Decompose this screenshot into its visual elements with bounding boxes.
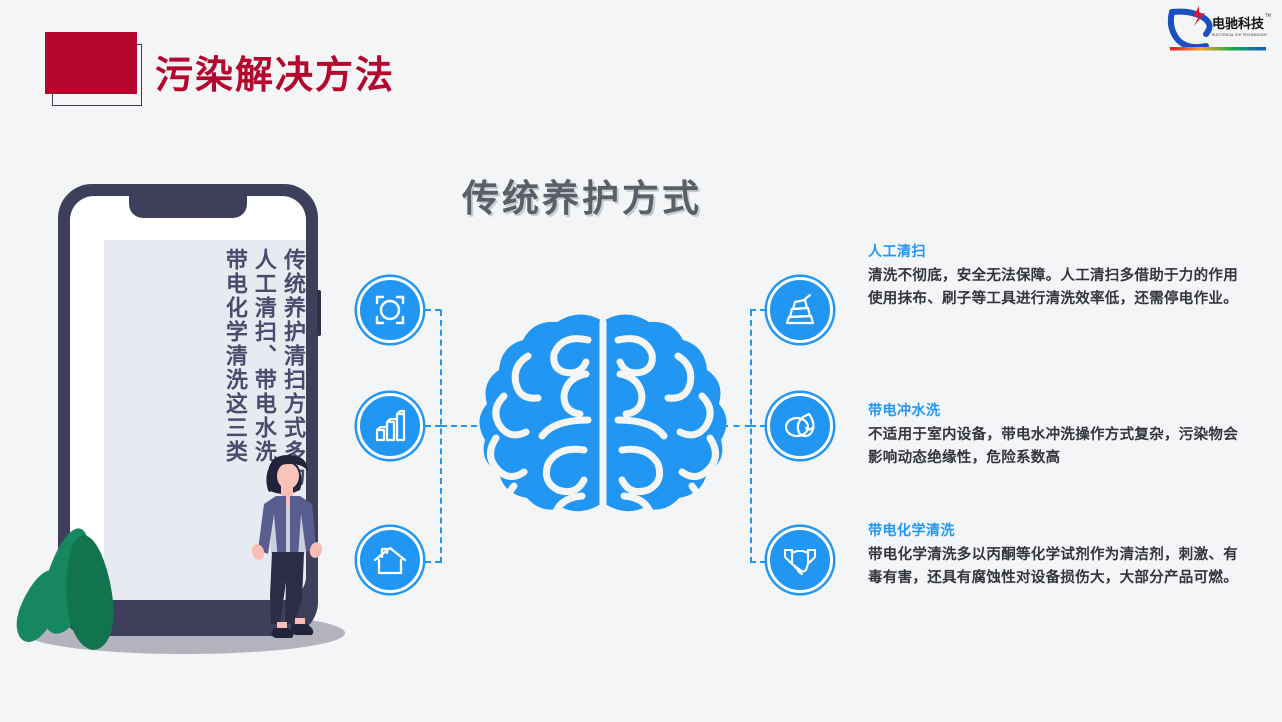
page-title: 污染解决方法 <box>155 44 395 99</box>
phone-home-button <box>176 601 201 626</box>
left-connector-branch-1 <box>425 309 441 311</box>
company-logo: 电驰科技 ELECTRICAL CHI TECHNOLOGY TM <box>1166 4 1274 52</box>
svg-text:ELECTRICAL CHI TECHNOLOGY: ELECTRICAL CHI TECHNOLOGY <box>1212 33 1268 37</box>
left-connector-stem <box>441 425 487 427</box>
left-connector-dot <box>483 421 492 430</box>
header-red-block <box>45 32 137 94</box>
water-drop-icon[interactable] <box>767 393 833 459</box>
right-connector-spine <box>750 310 752 563</box>
right-connector-branch-3 <box>750 561 766 563</box>
phone-side-button <box>317 290 321 336</box>
bar-chart-icon[interactable] <box>357 393 423 459</box>
slide-root: 污染解决方法 电驰科技 ELECTRICAL CHI TECHNOLOGY TM… <box>0 0 1282 722</box>
text-block-manual-sweep: 人工清扫 清洗不彻底，安全无法保障。人工清扫多借助于力的作用使用抹布、刷子等工具… <box>868 241 1240 312</box>
vertical-text-line-3: 带电化学清洗这三类 <box>223 248 246 464</box>
right-connector-branch-2 <box>750 425 766 427</box>
broom-icon[interactable] <box>767 277 833 343</box>
text-block-live-water-wash: 带电冲水洗 不适用于室内设备，带电水冲洗操作方式复杂，污染物会影响动态绝缘性，危… <box>868 400 1240 471</box>
right-connector-stem <box>722 425 751 427</box>
house-icon[interactable] <box>357 527 423 593</box>
text-block-title: 带电化学清洗 <box>868 520 1240 540</box>
text-block-live-chemical-wash: 带电化学清洗 带电化学清洗多以丙酮等化学试剂作为清洁剂，刺激、有毒有害，还具有腐… <box>868 520 1240 591</box>
section-heading: 传统养护方式 <box>462 168 702 222</box>
svg-text:TM: TM <box>1264 13 1271 18</box>
person-illustration <box>238 452 348 652</box>
svg-text:电驰科技: 电驰科技 <box>1212 16 1265 32</box>
phone-notch <box>129 196 247 218</box>
left-connector-branch-2 <box>425 425 441 427</box>
text-block-body: 清洗不彻底，安全无法保障。人工清扫多借助于力的作用使用抹布、刷子等工具进行清洗效… <box>868 265 1240 312</box>
text-block-title: 人工清扫 <box>868 241 1240 261</box>
right-connector-dot <box>716 421 725 430</box>
focus-frame-icon[interactable] <box>357 277 423 343</box>
left-connector-branch-3 <box>425 561 441 563</box>
left-connector-spine <box>440 310 442 563</box>
right-connector-branch-1 <box>750 309 766 311</box>
text-block-title: 带电冲水洗 <box>868 400 1240 420</box>
text-block-body: 不适用于室内设备，带电水冲洗操作方式复杂，污染物会影响动态绝缘性，危险系数高 <box>868 424 1240 471</box>
text-block-body: 带电化学清洗多以丙酮等化学试剂作为清洁剂，刺激、有毒有害，还具有腐蚀性对设备损伤… <box>868 544 1240 591</box>
handshake-icon[interactable] <box>767 527 833 593</box>
brain-illustration <box>468 300 738 582</box>
